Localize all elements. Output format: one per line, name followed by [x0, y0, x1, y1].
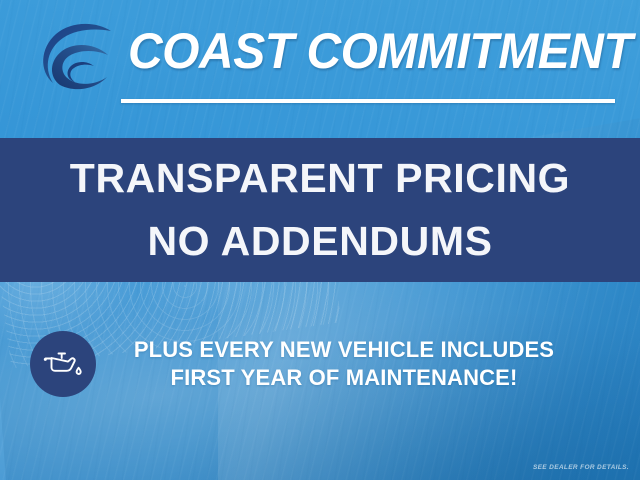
coast-commitment-banner: COAST COMMITMENT TRANSPARENT PRICING NO …: [0, 0, 640, 480]
header-divider: [121, 99, 615, 103]
headline-line-1: TRANSPARENT PRICING: [70, 158, 570, 199]
oil-can-badge: [30, 331, 96, 397]
disclaimer-text: SEE DEALER FOR DETAILS.: [533, 464, 629, 471]
headline-band: TRANSPARENT PRICING NO ADDENDUMS: [0, 138, 640, 282]
promo-line-1: PLUS EVERY NEW VEHICLE INCLUDES: [109, 336, 579, 364]
maintenance-promo-row: PLUS EVERY NEW VEHICLE INCLUDES FIRST YE…: [0, 322, 640, 406]
maintenance-promo-text: PLUS EVERY NEW VEHICLE INCLUDES FIRST YE…: [109, 336, 579, 392]
coast-wave-swirl-icon: [33, 19, 119, 97]
brand-title: COAST COMMITMENT: [128, 20, 608, 82]
oil-can-icon: [41, 347, 85, 381]
promo-line-2: FIRST YEAR OF MAINTENANCE!: [109, 364, 579, 392]
headline-line-2: NO ADDENDUMS: [147, 221, 492, 262]
banner-header: COAST COMMITMENT: [0, 0, 640, 118]
